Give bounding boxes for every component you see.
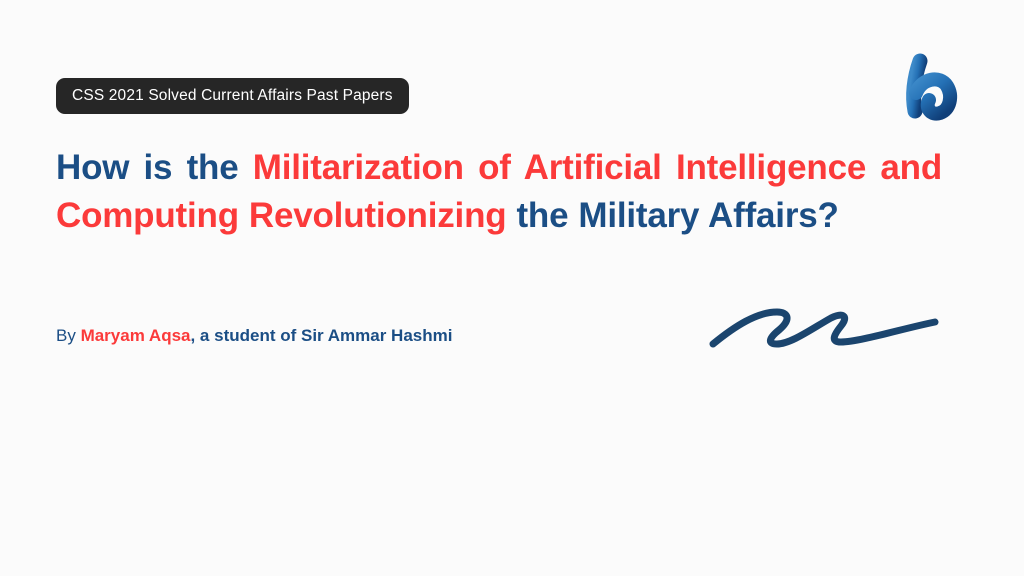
letter-h-logo-icon bbox=[900, 48, 972, 124]
byline-author: Maryam Aqsa bbox=[81, 326, 191, 345]
page-title: How is the Militarization of Artificial … bbox=[56, 144, 942, 240]
headline-part-lead: How is the bbox=[56, 148, 253, 187]
category-badge-label: CSS 2021 Solved Current Affairs Past Pap… bbox=[72, 88, 393, 104]
banner-canvas: CSS 2021 Solved Current Affairs Past Pap… bbox=[0, 0, 1024, 576]
byline: By Maryam Aqsa, a student of Sir Ammar H… bbox=[56, 324, 452, 348]
decorative-squiggle bbox=[705, 298, 945, 358]
brand-logo bbox=[900, 48, 972, 124]
category-badge: CSS 2021 Solved Current Affairs Past Pap… bbox=[56, 78, 409, 114]
hand-drawn-squiggle-icon bbox=[705, 298, 945, 358]
headline-part-tail: the Military Affairs? bbox=[506, 196, 838, 235]
byline-prefix: By bbox=[56, 326, 81, 345]
byline-affiliation: , a student of Sir Ammar Hashmi bbox=[190, 326, 452, 345]
